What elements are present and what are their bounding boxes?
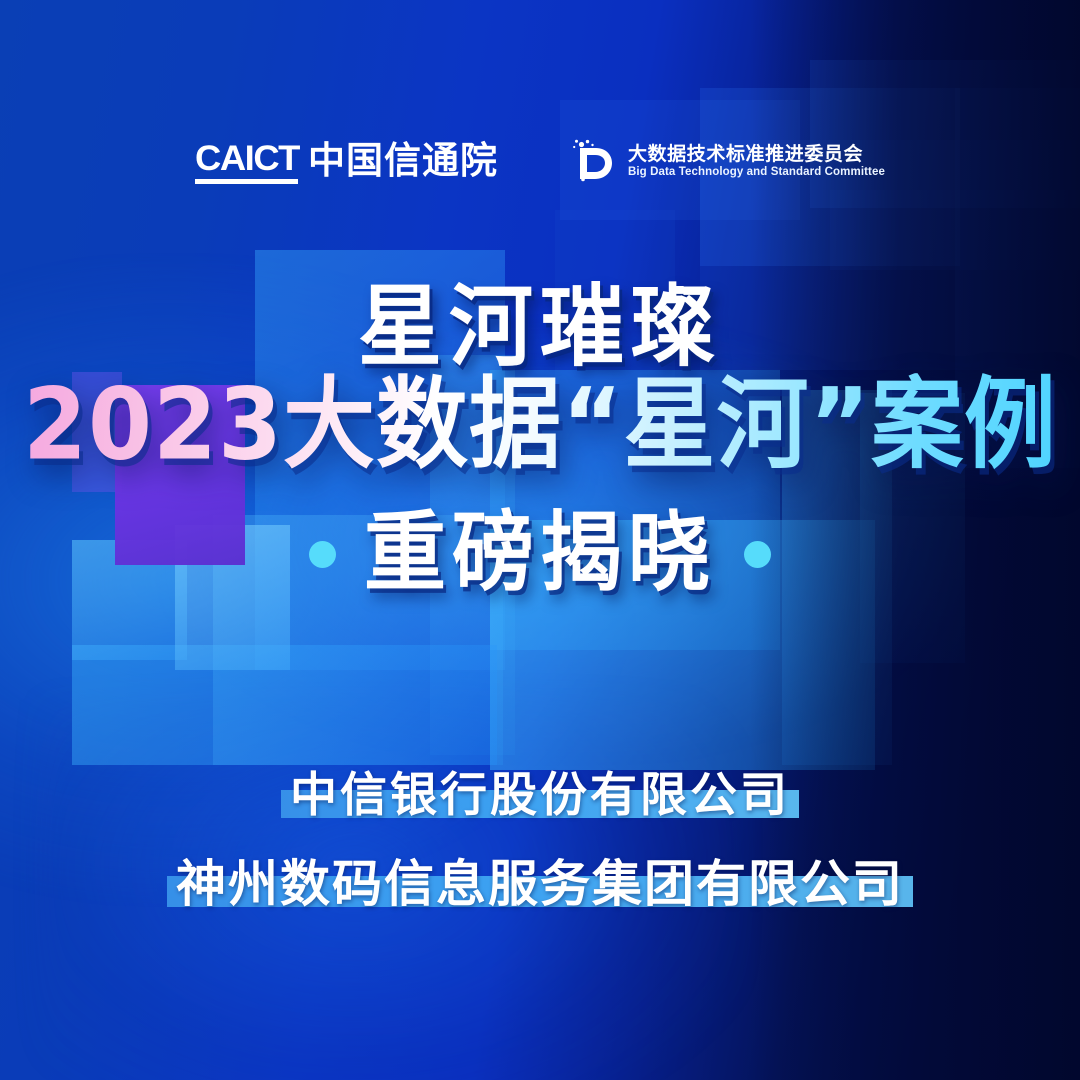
- headline-line-1: 星河璀璨: [0, 282, 1080, 373]
- bdc-english-name: Big Data Technology and Standard Committ…: [628, 167, 885, 179]
- headline-block: 星河璀璨 2023大数据“星河”案例 重磅揭晓: [0, 285, 1080, 596]
- headline-line-3: 重磅揭晓: [364, 510, 716, 599]
- logo-row: CAICT 中国信通院 大数据技术标准推进委员会 Big: [0, 138, 1080, 186]
- bullet-dot-right-icon: [744, 541, 771, 568]
- winner-name-2: 神州数码信息服务集团有限公司: [176, 855, 904, 913]
- winner-row-1: 中信银行股份有限公司: [0, 768, 1080, 824]
- poster-root: CAICT 中国信通院 大数据技术标准推进委员会 Big: [0, 0, 1080, 1080]
- headline-line-3-wrapper: 重磅揭晓: [0, 512, 1080, 596]
- stylized-d-icon: [570, 138, 616, 186]
- bdc-chinese-name: 大数据技术标准推进委员会: [628, 145, 885, 164]
- winner-name-1: 中信银行股份有限公司: [290, 768, 790, 823]
- big-data-committee-logo: 大数据技术标准推进委员会 Big Data Technology and Sta…: [570, 138, 885, 186]
- big-data-committee-text: 大数据技术标准推进委员会 Big Data Technology and Sta…: [628, 145, 885, 179]
- caict-logo: CAICT 中国信通院: [195, 141, 498, 184]
- caict-wordmark: CAICT: [195, 141, 295, 184]
- winner-row-2: 神州数码信息服务集团有限公司: [0, 824, 1080, 914]
- bullet-dot-left-icon: [309, 541, 336, 568]
- caict-underline-rule: [195, 179, 298, 184]
- caict-wordmark-text: CAICT: [195, 141, 299, 176]
- winner-name-2-container: 神州数码信息服务集团有限公司: [176, 854, 904, 914]
- caict-chinese-name: 中国信通院: [308, 142, 498, 184]
- winner-name-1-container: 中信银行股份有限公司: [290, 768, 790, 824]
- headline-line-2-wrapper: 2023大数据“星河”案例: [0, 377, 1080, 473]
- winners-block: 中信银行股份有限公司 神州数码信息服务集团有限公司: [0, 768, 1080, 914]
- headline-line-2: 2023大数据“星河”案例: [23, 373, 1057, 476]
